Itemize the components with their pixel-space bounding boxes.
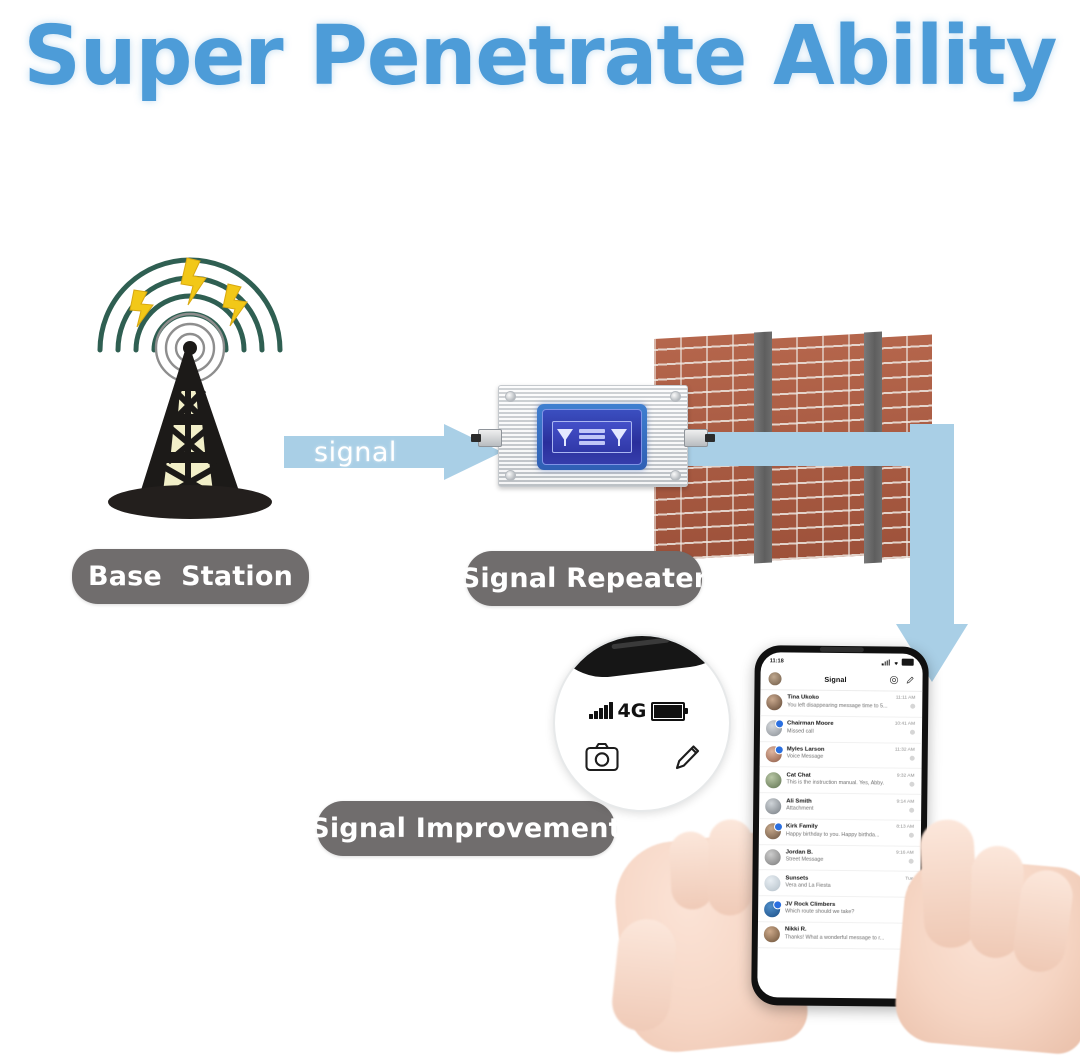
chat-meta: 9:32 AM bbox=[895, 773, 915, 786]
camera-icon[interactable] bbox=[889, 675, 898, 684]
avatar[interactable] bbox=[764, 901, 780, 917]
repeater-lcd-screen bbox=[542, 409, 642, 465]
repeater-readout bbox=[579, 429, 605, 445]
avatar[interactable] bbox=[766, 746, 782, 762]
cell-tower-icon bbox=[70, 230, 370, 530]
unread-badge bbox=[775, 745, 784, 754]
camera-icon bbox=[585, 742, 619, 772]
avatar[interactable] bbox=[768, 672, 781, 685]
chat-preview: Voice Message bbox=[787, 754, 888, 761]
avatar[interactable] bbox=[765, 849, 781, 865]
signal-arrow-right: signal bbox=[284, 424, 502, 480]
phone-status-bar: 11:18 bbox=[761, 652, 923, 669]
chat-text: Ali SmithAttachment bbox=[786, 798, 890, 812]
signal-improvement-magnifier: 4G bbox=[553, 634, 731, 812]
label-base-station: Base Station bbox=[72, 549, 309, 604]
delivery-status-icon bbox=[909, 807, 914, 812]
chat-meta: 10:41 AM bbox=[893, 722, 915, 735]
chat-meta: 11:32 AM bbox=[893, 748, 915, 761]
chat-list-item[interactable]: Ali SmithAttachment9:14 AM bbox=[759, 793, 921, 820]
chat-text: SunsetsVera and La Fiesta bbox=[785, 875, 898, 890]
chat-list-item[interactable]: Chairman MooreMissed call10:41 AM bbox=[760, 716, 922, 743]
app-header: Signal bbox=[760, 667, 922, 692]
header-actions bbox=[889, 675, 914, 684]
chat-timestamp: 9:14 AM bbox=[897, 799, 915, 804]
battery-icon bbox=[902, 658, 914, 666]
chat-meta: 11:11 AM bbox=[894, 696, 916, 709]
delivery-status-icon bbox=[910, 704, 915, 709]
chat-list-item[interactable]: Tina UkokoYou left disappearing message … bbox=[760, 690, 922, 717]
delivery-status-icon bbox=[910, 730, 915, 735]
signal-repeater-device bbox=[498, 385, 688, 487]
chat-preview: Thanks! What a wonderful message to r... bbox=[785, 934, 898, 941]
chat-meta: 8:13 AM bbox=[894, 825, 914, 838]
unread-badge bbox=[773, 900, 782, 909]
thumb bbox=[609, 916, 678, 1033]
chat-text: Chairman MooreMissed call bbox=[787, 721, 888, 735]
compose-pencil-icon[interactable] bbox=[905, 675, 914, 684]
chat-name: Kirk Family bbox=[786, 824, 889, 831]
chat-text: Kirk FamilyHappy birthday to you. Happy … bbox=[786, 824, 890, 838]
chat-name: Tina Ukoko bbox=[787, 695, 888, 702]
chat-preview: Attachment bbox=[786, 805, 889, 812]
chat-list-item[interactable]: JV Rock ClimbersWhich route should we ta… bbox=[758, 896, 920, 923]
chat-list-item[interactable]: Myles LarsonVoice Message11:32 AM bbox=[760, 742, 922, 769]
chat-name: Myles Larson bbox=[787, 746, 888, 753]
chat-preview: Missed call bbox=[787, 728, 888, 735]
label-signal-repeater: Signal Repeater bbox=[466, 551, 702, 606]
label-signal-improvement: Signal Improvement bbox=[317, 801, 615, 856]
avatar[interactable] bbox=[766, 695, 782, 711]
phone-speaker-notch bbox=[820, 647, 864, 652]
chat-list-item[interactable]: Nikki R.Thanks! What a wonderful message… bbox=[758, 922, 920, 949]
diagram-canvas: Super Penetrate Ability bbox=[0, 0, 1080, 1038]
avatar[interactable] bbox=[764, 875, 780, 891]
avatar[interactable] bbox=[766, 720, 782, 736]
avatar[interactable] bbox=[764, 927, 780, 943]
pencil-icon bbox=[673, 742, 703, 772]
repeater-shell bbox=[498, 385, 688, 487]
chat-name: Sunsets bbox=[785, 875, 898, 882]
chat-text: Myles LarsonVoice Message bbox=[787, 746, 888, 760]
delivery-status-icon bbox=[909, 833, 914, 838]
network-type-label: 4G bbox=[618, 700, 647, 722]
signal-arrow-label: signal bbox=[314, 437, 397, 468]
right-hand-pointing bbox=[892, 854, 1080, 1056]
finger bbox=[707, 819, 753, 916]
page-title: Super Penetrate Ability bbox=[16, 14, 1064, 100]
repeater-lcd-content bbox=[552, 421, 632, 452]
unread-badge bbox=[775, 719, 784, 728]
wifi-icon bbox=[892, 659, 899, 665]
chat-preview: Which route should we take? bbox=[785, 908, 898, 915]
antenna-port-left bbox=[478, 429, 502, 447]
chat-name: Chairman Moore bbox=[787, 721, 888, 728]
chat-meta: 9:14 AM bbox=[895, 799, 915, 812]
status-icons bbox=[882, 658, 914, 666]
screw-icon bbox=[670, 470, 681, 481]
chat-name: Jordan B. bbox=[786, 850, 889, 857]
signal-bars-icon bbox=[882, 659, 890, 665]
delivery-status-icon bbox=[909, 859, 914, 864]
signal-bars-icon bbox=[589, 703, 613, 719]
chat-timestamp: 8:13 AM bbox=[896, 825, 914, 830]
chat-timestamp: 10:41 AM bbox=[895, 722, 915, 727]
chat-preview: This is the instruction manual. Yes, Abb… bbox=[786, 780, 889, 787]
chat-text: Tina UkokoYou left disappearing message … bbox=[787, 695, 889, 709]
chat-list[interactable]: Tina UkokoYou left disappearing message … bbox=[757, 690, 922, 992]
chat-text: Nikki R.Thanks! What a wonderful message… bbox=[785, 927, 898, 942]
chat-preview: Street Message bbox=[786, 857, 889, 864]
chat-preview: Vera and La Fiesta bbox=[785, 883, 898, 890]
screw-icon bbox=[505, 391, 516, 402]
chat-list-item[interactable]: Kirk FamilyHappy birthday to you. Happy … bbox=[759, 819, 921, 846]
chat-meta: 9:16 AM bbox=[894, 851, 914, 864]
chat-name: Cat Chat bbox=[786, 772, 889, 779]
phone-screen[interactable]: 11:18 Signal bbox=[757, 652, 923, 999]
chat-list-item[interactable]: Cat ChatThis is the instruction manual. … bbox=[759, 767, 921, 794]
chat-text: Cat ChatThis is the instruction manual. … bbox=[786, 772, 890, 786]
chat-preview: Happy birthday to you. Happy birthda... bbox=[786, 831, 889, 838]
chat-text: Jordan B.Street Message bbox=[786, 850, 890, 864]
arrow-shaft bbox=[910, 424, 954, 630]
chat-timestamp: 9:32 AM bbox=[897, 773, 915, 778]
chat-timestamp: 9:16 AM bbox=[896, 851, 914, 856]
phone-top-bezel-zoom bbox=[553, 634, 731, 684]
delivery-status-icon bbox=[910, 756, 915, 761]
avatar[interactable] bbox=[765, 798, 781, 814]
chat-timestamp: 11:32 AM bbox=[895, 748, 915, 753]
antenna-port-right bbox=[684, 429, 708, 447]
repeater-display-bezel bbox=[537, 404, 647, 470]
battery-icon bbox=[651, 702, 685, 721]
avatar[interactable] bbox=[765, 772, 781, 788]
chat-timestamp: 11:11 AM bbox=[896, 696, 916, 701]
status-time: 11:18 bbox=[770, 658, 784, 664]
screw-icon bbox=[670, 391, 681, 402]
chat-list-item[interactable]: Jordan B.Street Message9:16 AM bbox=[759, 845, 921, 872]
zoomed-status-row: 4G bbox=[589, 698, 707, 724]
app-title: Signal bbox=[824, 674, 846, 683]
zoomed-icon-row bbox=[585, 742, 703, 772]
chat-name: Ali Smith bbox=[786, 798, 889, 805]
chat-name: Nikki R. bbox=[785, 927, 898, 934]
base-station-tower-illustration bbox=[70, 230, 370, 530]
antenna-icon bbox=[557, 428, 573, 446]
chat-text: JV Rock ClimbersWhich route should we ta… bbox=[785, 901, 898, 916]
chat-name: JV Rock Climbers bbox=[785, 901, 898, 908]
chat-preview: You left disappearing message time to 5.… bbox=[787, 702, 888, 709]
unread-badge bbox=[774, 823, 783, 832]
screw-icon bbox=[505, 470, 516, 481]
delivery-status-icon bbox=[909, 781, 914, 786]
chat-list-item[interactable]: SunsetsVera and La FiestaTue bbox=[758, 871, 920, 898]
avatar[interactable] bbox=[765, 824, 781, 840]
antenna-icon bbox=[611, 428, 627, 446]
